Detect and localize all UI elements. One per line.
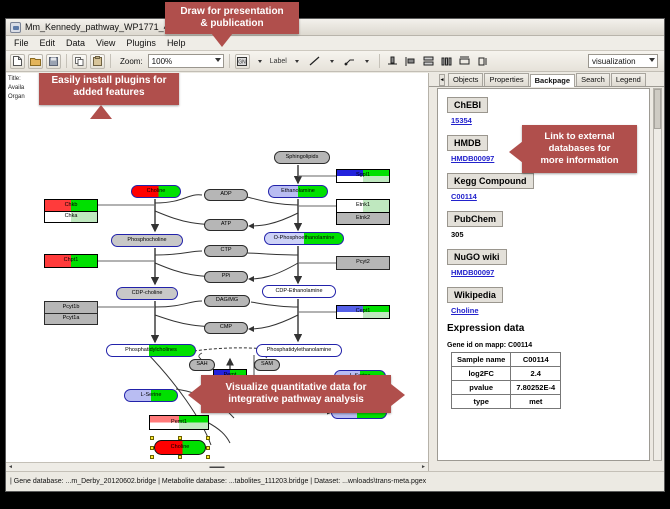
chevron-down-icon [649, 58, 655, 62]
canvas-horizontal-scrollbar[interactable]: ◄ ▬▬▬ ► [6, 462, 428, 471]
backpage-heading-kegg: Kegg Compound [447, 173, 534, 189]
gene-sgpl1[interactable]: Sgpl1 [336, 169, 390, 183]
scroll-thumb[interactable]: ▬▬▬ [210, 464, 225, 470]
node-ctp[interactable]: CTP [204, 245, 248, 257]
node-label: PPi [222, 274, 231, 280]
backpage-link-nugo[interactable]: HMDB00097 [451, 268, 640, 277]
gene-chkb[interactable]: Chkb [44, 199, 98, 211]
chevron-down-icon [295, 60, 299, 63]
backpage-link-wikipedia[interactable]: Choline [451, 306, 640, 315]
resize-handle-n[interactable] [178, 436, 182, 440]
menu-edit[interactable]: Edit [38, 38, 58, 48]
stack-center-icon[interactable] [421, 54, 436, 69]
node-dagmg[interactable]: DAG/MG [204, 295, 250, 307]
node-label: Pcyt2 [356, 260, 370, 266]
scroll-thumb[interactable] [654, 89, 661, 129]
svg-text:GN: GN [238, 59, 246, 65]
pathway-canvas[interactable]: Title: Availa Organ [6, 73, 429, 471]
node-label: L-Serine [141, 393, 162, 399]
table-cell-value: 7.80252E-4 [511, 381, 561, 395]
chevron-down-icon [365, 60, 369, 63]
gene-etnk1[interactable]: Etnk1 [336, 199, 390, 212]
table-row: type met [452, 395, 561, 409]
node-phosphatidylcholines[interactable]: Phosphatidylcholines [106, 344, 196, 357]
node-label: Chka [65, 214, 78, 220]
node-label: Chkb [65, 203, 78, 209]
toolbar-separator [229, 54, 230, 68]
node-label: Pemt1 [171, 420, 187, 426]
datanode-icon[interactable]: GN [235, 54, 250, 69]
node-sam[interactable]: SAM [254, 359, 280, 371]
gene-pemt1[interactable]: Pemt1 [149, 415, 209, 430]
menu-data[interactable]: Data [64, 38, 87, 48]
gene-chpt1[interactable]: Chpt1 [44, 254, 98, 268]
node-label: Sphingolipids [286, 155, 319, 161]
line-dropdown[interactable] [325, 55, 339, 68]
save-disk-icon[interactable] [46, 54, 61, 69]
node-sah[interactable]: SAH [189, 359, 215, 371]
backpage-link-chebi[interactable]: 15354 [451, 116, 640, 125]
pathvisio-window: Mm_Kennedy_pathway_WP1771_45176.gpml Fil… [5, 18, 665, 492]
node-choline-top[interactable]: Choline [131, 185, 181, 198]
node-label: Pcyt1b [63, 305, 80, 311]
menu-file[interactable]: File [12, 38, 31, 48]
work-area: Title: Availa Organ [6, 73, 664, 471]
zoom-value: 100% [152, 57, 172, 66]
scroll-left-arrow[interactable]: ◄ [8, 464, 13, 470]
tool-bar: Zoom: 100% GN Label [6, 51, 664, 72]
zoom-combo[interactable]: 100% [148, 54, 224, 68]
table-cell-value: C00114 [511, 353, 561, 367]
node-choline-selected[interactable]: Choline [154, 440, 206, 455]
expression-table: Sample name C00114 log2FC 2.4 pvalue 7.8… [451, 352, 561, 409]
node-label: DAG/MG [216, 298, 238, 304]
chevron-down-icon [258, 60, 262, 63]
align-left-icon[interactable] [403, 54, 418, 69]
copy-icon[interactable] [72, 54, 87, 69]
node-ethanolamine[interactable]: Ethanolamine [268, 185, 328, 198]
resize-handle-w[interactable] [150, 446, 154, 450]
resize-handle-ne[interactable] [206, 436, 210, 440]
interaction-icon[interactable] [342, 54, 357, 69]
backpage-heading-wikipedia: Wikipedia [447, 287, 503, 303]
interaction-dropdown[interactable] [360, 55, 374, 68]
node-label: CTP [221, 248, 232, 254]
gene-cept1[interactable]: Cept1 [336, 305, 390, 319]
expression-data-title: Expression data [447, 323, 640, 334]
app-icon [10, 22, 21, 33]
datanode-dropdown[interactable] [253, 55, 267, 68]
callout-plugins: Easily install plugins for added feature… [39, 73, 179, 105]
menu-help[interactable]: Help [165, 38, 188, 48]
callout-links-arrow [509, 141, 523, 163]
side-pane: ◄ Objects Properties Backpage Search Leg… [429, 73, 664, 471]
tab-search[interactable]: Search [576, 73, 610, 86]
align-top-icon[interactable] [385, 54, 400, 69]
node-ppi[interactable]: PPi [204, 271, 248, 283]
visualization-combo[interactable]: visualization [588, 54, 658, 68]
toolbar-separator [66, 54, 67, 68]
node-label: SAM [261, 362, 273, 368]
table-cell-value: 2.4 [511, 367, 561, 381]
callout-visualize: Visualize quantitative data for integrat… [201, 375, 391, 413]
table-row: Sample name C00114 [452, 353, 561, 367]
label-tool-label: Label [270, 58, 287, 65]
node-label: Pcyt1a [63, 316, 80, 322]
tab-legend[interactable]: Legend [611, 73, 646, 86]
gene-etnk2[interactable]: Etnk2 [336, 212, 390, 225]
backpage-value-pubchem: 305 [451, 230, 640, 239]
same-width-icon[interactable] [457, 54, 472, 69]
menu-view[interactable]: View [94, 38, 117, 48]
same-height-icon[interactable] [475, 54, 490, 69]
callout-visualize-arrow-right [391, 384, 405, 406]
status-text: | Gene database: ...m_Derby_20120602.bri… [10, 478, 426, 485]
side-pane-tabs: ◄ Objects Properties Backpage Search Leg… [429, 73, 664, 87]
title-bar: Mm_Kennedy_pathway_WP1771_45176.gpml [6, 19, 664, 36]
node-phosphatidylethanolamine[interactable]: Phosphatidylethanolamine [256, 344, 342, 357]
backpage-link-kegg[interactable]: C00114 [451, 192, 640, 201]
node-label: CDP-Ethanolamine [275, 289, 322, 295]
resize-handle-nw[interactable] [150, 436, 154, 440]
node-label: CMP [220, 325, 232, 331]
node-adp[interactable]: ADP [204, 189, 248, 201]
gene-pcyt1a[interactable]: Pcyt1a [44, 313, 98, 325]
tab-objects[interactable]: Objects [448, 73, 483, 86]
side-pane-scrollbar[interactable] [653, 88, 662, 461]
label-dropdown[interactable] [290, 55, 304, 68]
toolbar-separator [379, 54, 380, 68]
gene-pcyt1b[interactable]: Pcyt1b [44, 301, 98, 313]
resize-handle-e[interactable] [206, 446, 210, 450]
table-cell-key: Sample name [452, 353, 511, 367]
scroll-right-arrow[interactable]: ► [421, 464, 426, 470]
new-file-icon[interactable] [10, 54, 25, 69]
gene-pcyt2[interactable]: Pcyt2 [336, 256, 390, 270]
node-label: ATP [221, 222, 231, 228]
tab-backpage[interactable]: Backpage [530, 74, 575, 87]
backpage-heading-pubchem: PubChem [447, 211, 503, 227]
node-label: Ethanolamine [281, 189, 315, 195]
node-label: Phosphatidylethanolamine [267, 348, 332, 354]
menu-plugins[interactable]: Plugins [124, 38, 158, 48]
zoom-label: Zoom: [120, 57, 143, 66]
callout-draw: Draw for presentation & publication [165, 2, 299, 34]
backpage-heading-chebi: ChEBI [447, 97, 488, 113]
table-row: pvalue 7.80252E-4 [452, 381, 561, 395]
callout-plugins-arrow [90, 105, 112, 119]
distribute-icon[interactable] [439, 54, 454, 69]
node-label: ADP [220, 192, 231, 198]
backpage-heading-nugo: NuGO wiki [447, 249, 507, 265]
table-cell-key: type [452, 395, 511, 409]
node-label: O-Phosphoethanolamine [274, 236, 335, 242]
open-folder-icon[interactable] [28, 54, 43, 69]
toolbar-separator [110, 54, 111, 68]
chevron-down-icon [215, 58, 221, 62]
node-o-phosphoethanolamine[interactable]: O-Phosphoethanolamine [264, 232, 344, 245]
node-l-serine-left[interactable]: L-Serine [124, 389, 178, 402]
node-label: CDP-choline [132, 291, 163, 297]
node-cdp-ethanolamine[interactable]: CDP-Ethanolamine [262, 285, 336, 298]
callout-links: Link to external databases for more info… [522, 125, 637, 173]
node-label: Cept1 [356, 309, 371, 315]
line-icon[interactable] [307, 54, 322, 69]
paste-icon[interactable] [90, 54, 105, 69]
callout-draw-arrow [211, 33, 233, 47]
chevron-down-icon [330, 60, 334, 63]
callout-visualize-arrow-left [188, 384, 202, 406]
resize-handle-sw[interactable] [150, 455, 154, 459]
node-label: Phosphatidylcholines [125, 348, 177, 354]
node-phosphocholine[interactable]: Phosphocholine [111, 234, 183, 247]
node-label: Etnk1 [356, 203, 370, 209]
menu-bar: File Edit Data View Plugins Help [6, 36, 664, 51]
node-atp[interactable]: ATP [204, 219, 248, 231]
tab-properties[interactable]: Properties [484, 73, 528, 86]
node-label: SAH [196, 362, 207, 368]
node-label: Choline [147, 189, 166, 195]
node-label: Etnk2 [356, 216, 370, 222]
gene-chka[interactable]: Chka [44, 211, 98, 223]
node-label: Chpt1 [64, 258, 79, 264]
resize-handle-s[interactable] [178, 455, 182, 459]
node-choline-selected-group[interactable]: Choline [154, 440, 206, 455]
table-cell-key: log2FC [452, 367, 511, 381]
gene-id-note: Gene id on mapp: C00114 [447, 342, 640, 349]
tab-scroll-left[interactable]: ◄ [439, 74, 445, 86]
node-label: Phosphocholine [127, 238, 166, 244]
table-row: log2FC 2.4 [452, 367, 561, 381]
node-cdp-choline[interactable]: CDP-choline [116, 287, 178, 300]
backpage-heading-hmdb: HMDB [447, 135, 488, 151]
node-label: Sgpl1 [356, 173, 370, 179]
visualization-value: visualization [592, 57, 636, 66]
node-sphingolipids[interactable]: Sphingolipids [274, 151, 330, 164]
node-label: Choline [171, 445, 190, 451]
table-cell-value: met [511, 395, 561, 409]
table-cell-key: pvalue [452, 381, 511, 395]
status-bar: | Gene database: ...m_Derby_20120602.bri… [6, 471, 664, 491]
node-cmp[interactable]: CMP [204, 322, 248, 334]
resize-handle-se[interactable] [206, 455, 210, 459]
